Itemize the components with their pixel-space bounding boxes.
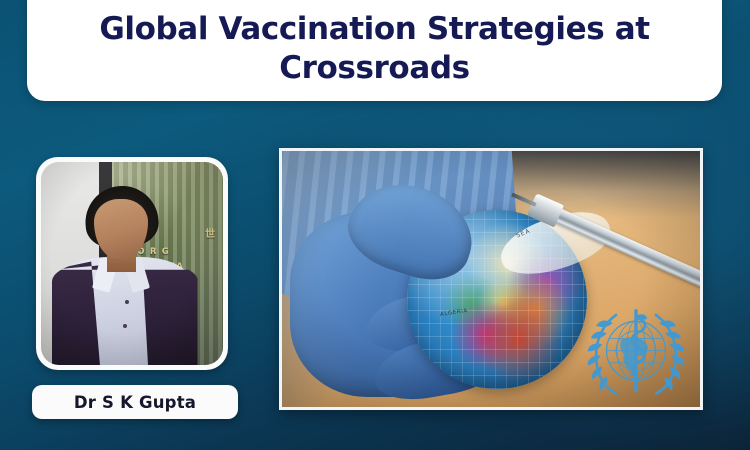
who-emblem-icon bbox=[584, 297, 688, 401]
title-card: Global Vaccination Strategies at Crossro… bbox=[27, 0, 722, 101]
photo-vignette bbox=[41, 162, 223, 365]
author-photo: 世 O R G MONDIA ЕМИР ЗДР bbox=[41, 162, 223, 365]
feature-image: ALGERIA SEA bbox=[282, 151, 700, 407]
feature-image-frame: ALGERIA SEA bbox=[279, 148, 703, 410]
author-photo-frame: 世 O R G MONDIA ЕМИР ЗДР bbox=[36, 157, 228, 370]
poster-canvas: Global Vaccination Strategies at Crossro… bbox=[0, 0, 750, 450]
page-title: Global Vaccination Strategies at Crossro… bbox=[55, 10, 694, 88]
author-name: Dr S K Gupta bbox=[74, 393, 196, 412]
author-name-badge: Dr S K Gupta bbox=[32, 385, 238, 419]
